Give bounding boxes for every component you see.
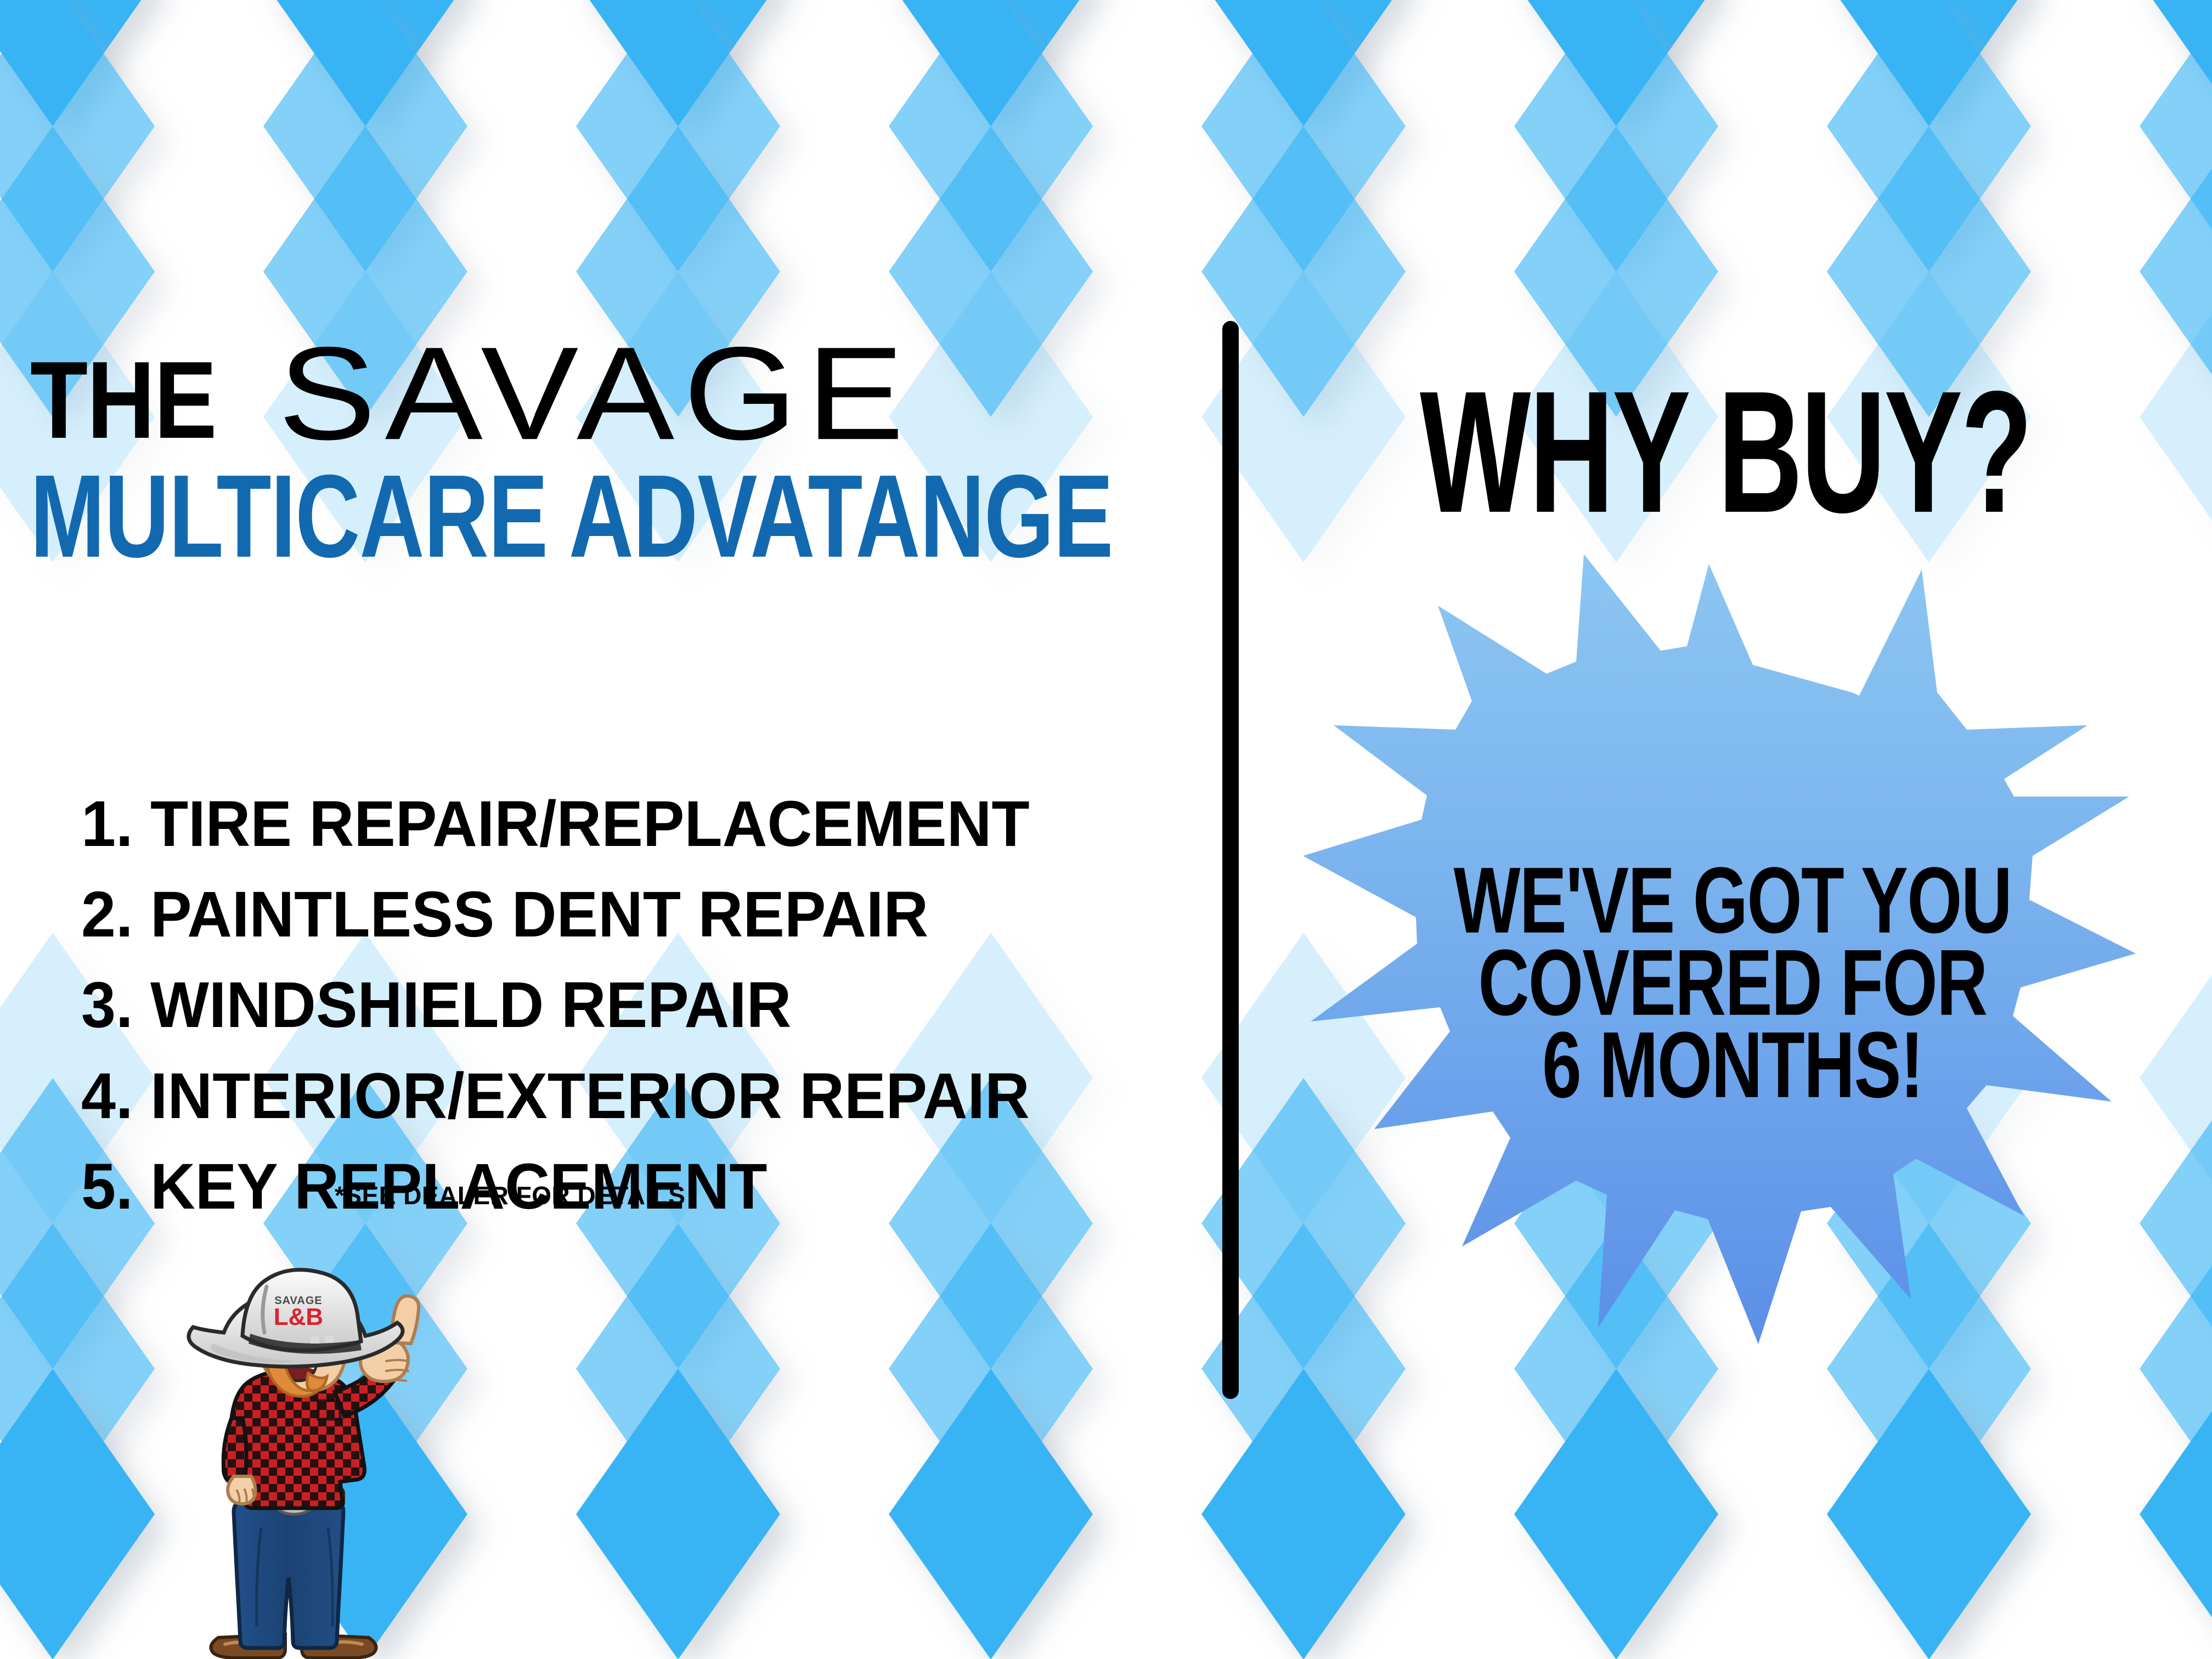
left-panel: THE SAVAGE MULTICARE ADVATANGE 1. TIRE R… xyxy=(0,0,1222,1659)
promo-poster: THE SAVAGE MULTICARE ADVATANGE 1. TIRE R… xyxy=(0,0,2212,1659)
vertical-divider xyxy=(1222,321,1239,1399)
hat-logo-lb-text: L&B xyxy=(274,1304,323,1330)
list-item: 2. PAINTLESS DENT REPAIR xyxy=(81,870,1135,960)
starburst-text-block: WE'VE GOT YOU COVERED FOR 6 MONTHS! xyxy=(1384,853,2081,1100)
why-buy-headline: WHY BUY? xyxy=(1336,365,2114,538)
cowboy-mascot-icon: SAVAGE L&B xyxy=(154,1254,433,1659)
benefit-list: 1. TIRE REPAIR/REPLACEMENT 2. PAINTLESS … xyxy=(81,779,1178,1232)
burst-line: 6 MONTHS! xyxy=(1433,1018,2032,1111)
starburst-callout: WE'VE GOT YOU COVERED FOR 6 MONTHS! xyxy=(1291,549,2169,1372)
brand-line-one: THE SAVAGE xyxy=(30,324,1160,453)
mascot-cowboy-hat: SAVAGE L&B xyxy=(189,1270,403,1367)
brand-the-word: THE xyxy=(30,351,216,450)
list-item: 3. WINDSHIELD REPAIR xyxy=(81,960,1135,1051)
mascot-jeans xyxy=(234,1503,343,1648)
disclaimer-text: *SEE DEALER FOR DETAILS xyxy=(335,1181,685,1210)
right-panel: WHY BUY? WE'VE GOT YOU COVERED FOR 6 MON… xyxy=(1239,0,2212,1659)
brand-savage-wordmark: SAVAGE xyxy=(278,334,913,453)
brand-subtitle: MULTICARE ADVATANGE xyxy=(30,463,1081,572)
brand-lockup: THE SAVAGE MULTICARE ADVATANGE xyxy=(30,324,1160,552)
list-item: 4. INTERIOR/EXTERIOR REPAIR xyxy=(81,1051,1135,1142)
list-item: 1. TIRE REPAIR/REPLACEMENT xyxy=(81,779,1135,870)
